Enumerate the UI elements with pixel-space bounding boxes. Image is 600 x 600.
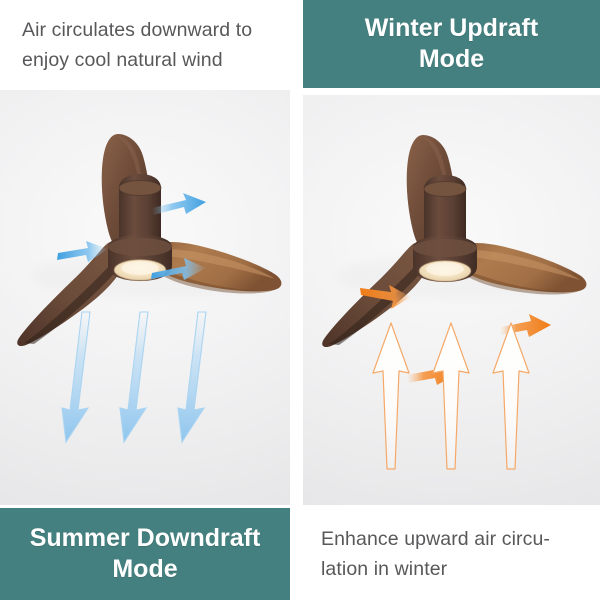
- winter-updraft-image-panel: [303, 95, 600, 505]
- summer-downdraft-title-text: Summer Downdraft Mode: [30, 523, 261, 585]
- updraft-arrow-3: [493, 323, 529, 469]
- horizontal-gutter-top: [0, 88, 303, 90]
- summer-downdraft-image-panel: [0, 90, 290, 505]
- summer-fan-illustration: [0, 90, 290, 505]
- updraft-flow-arrows: [373, 323, 529, 469]
- updraft-arrow-2: [433, 323, 469, 469]
- vertical-gutter: [290, 0, 303, 600]
- downdraft-flow-arrows: [62, 312, 206, 442]
- top-left-caption-text: Air circulates downward to enjoy cool na…: [22, 15, 252, 75]
- bottom-right-caption-panel: Enhance upward air circu- lation in wint…: [303, 508, 600, 600]
- horizontal-gutter-bottom: [303, 505, 600, 508]
- updraft-arrow-1: [373, 323, 409, 469]
- downdraft-arrow-2: [120, 312, 148, 442]
- downdraft-arrow-1: [62, 312, 90, 442]
- winter-fan-illustration: [303, 95, 600, 505]
- downdraft-arrow-3: [178, 312, 206, 442]
- bottom-right-caption-text: Enhance upward air circu- lation in wint…: [321, 524, 550, 584]
- winter-updraft-title-panel: Winter Updraft Mode: [303, 0, 600, 88]
- infographic-root: Air circulates downward to enjoy cool na…: [0, 0, 600, 600]
- summer-downdraft-title-panel: Summer Downdraft Mode: [0, 508, 290, 600]
- top-left-caption-panel: Air circulates downward to enjoy cool na…: [0, 0, 300, 90]
- winter-updraft-title-text: Winter Updraft Mode: [365, 13, 538, 75]
